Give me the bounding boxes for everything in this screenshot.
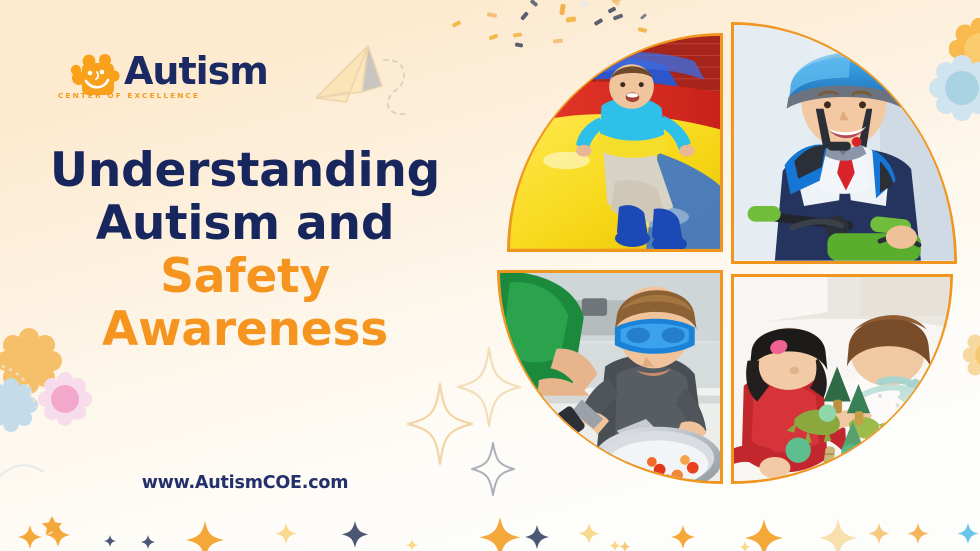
website-url[interactable]: www.AutismCOE.com bbox=[0, 473, 490, 493]
title-line-3: Safety bbox=[0, 250, 490, 303]
flower-icon bbox=[38, 372, 92, 426]
brand-logo[interactable]: Autism bbox=[68, 48, 288, 110]
collage-photo-children-playing-with-toys bbox=[731, 274, 953, 484]
title-line-2: Autism and bbox=[0, 197, 490, 250]
title-line-1: Understanding bbox=[0, 144, 490, 197]
logo-tagline: CENTER OF EXCELLENCE bbox=[58, 91, 200, 100]
flower-icon bbox=[0, 378, 38, 432]
page-title: Understanding Autism and Safety Awarenes… bbox=[0, 144, 490, 356]
collage-photo-boy-with-bike-helmet bbox=[731, 22, 957, 264]
title-line-4: Awareness bbox=[0, 303, 490, 356]
photo-collage bbox=[497, 22, 957, 484]
collage-photo-boy-cooking-in-kitchen bbox=[497, 270, 723, 484]
svg-text:Autism: Autism bbox=[124, 49, 268, 93]
star-border bbox=[0, 495, 980, 551]
poster-canvas: Autism CENTER OF EXCELLENCE Understandin… bbox=[0, 0, 980, 551]
decorative-arc bbox=[0, 360, 60, 430]
paper-airplane-icon bbox=[306, 40, 446, 150]
collage-photo-boy-on-playground-slide bbox=[507, 33, 723, 252]
flower-icon bbox=[963, 330, 980, 380]
sparkle-icon bbox=[404, 380, 476, 468]
